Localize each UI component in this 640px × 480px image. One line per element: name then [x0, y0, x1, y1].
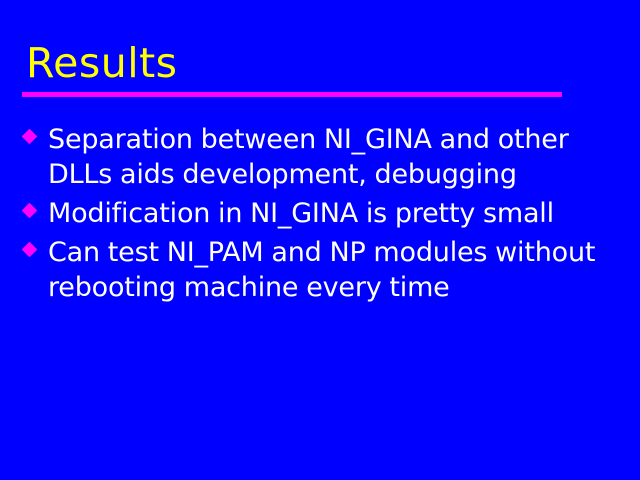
- title-divider: [22, 92, 562, 97]
- bullet-list: Separation between NI_GINA and other DLL…: [22, 122, 622, 309]
- list-item-text: Modification in NI_GINA is pretty small: [48, 196, 622, 231]
- list-item: Can test NI_PAM and NP modules without r…: [22, 235, 622, 305]
- list-item: Modification in NI_GINA is pretty small: [22, 196, 622, 231]
- diamond-bullet-icon: [22, 129, 38, 145]
- diamond-bullet-icon: [22, 242, 38, 258]
- list-item: Separation between NI_GINA and other DLL…: [22, 122, 622, 192]
- list-item-text: Can test NI_PAM and NP modules without r…: [48, 235, 622, 305]
- presentation-slide: Results Separation between NI_GINA and o…: [0, 0, 640, 480]
- page-title: Results: [26, 40, 178, 86]
- list-item-text: Separation between NI_GINA and other DLL…: [48, 122, 622, 192]
- diamond-bullet-icon: [22, 203, 38, 219]
